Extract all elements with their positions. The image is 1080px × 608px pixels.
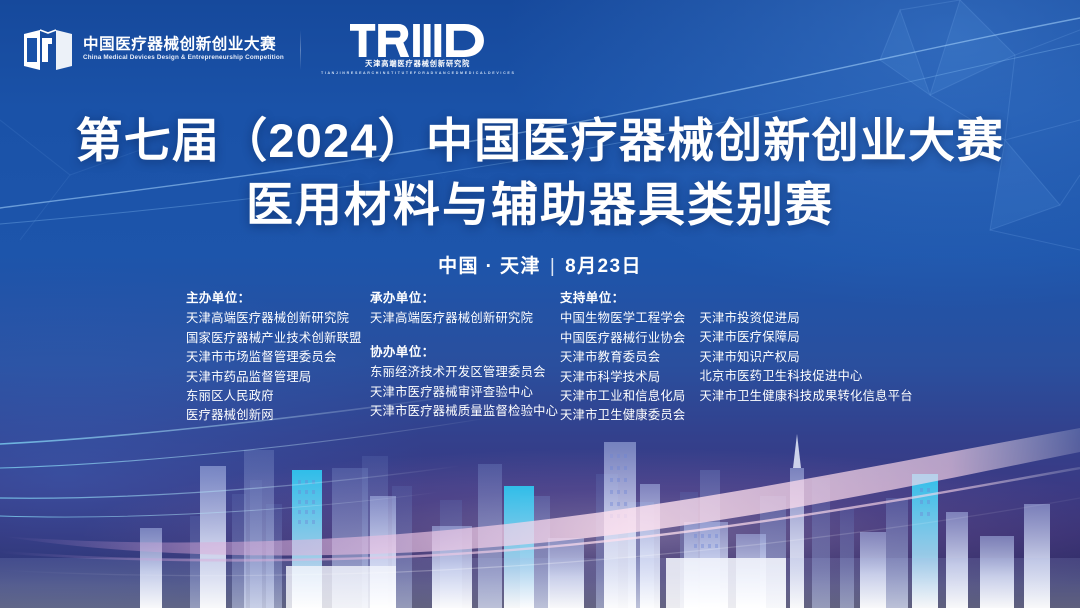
institute-logo[interactable]: 天津高端医疗器械创新研究院 T I A N J I N R E S E A R …	[321, 24, 514, 75]
competition-logo[interactable]: 中国医疗器械创新创业大赛 China Medical Devices Desig…	[22, 28, 280, 72]
organizer-column: 主办单位： 天津高端医疗器械创新研究院 国家医疗器械产业技术创新联盟 天津市市场…	[186, 289, 370, 426]
event-meta: 中国 · 天津|8月23日	[0, 251, 1080, 278]
trimd-wordmark-icon	[350, 24, 486, 57]
coorganizer-item: 天津市医疗器械质量监督检验中心	[370, 402, 560, 421]
organizer-item: 东丽区人民政府	[186, 387, 370, 406]
open-door-icon	[22, 28, 74, 72]
supporter-item: 天津市工业和信息化局	[560, 387, 685, 406]
main-title-line1: 第七届（2024）中国医疗器械创新创业大赛	[0, 112, 1080, 170]
supporter-item: 天津市投资促进局	[699, 309, 912, 328]
organizer-item: 国家医疗器械产业技术创新联盟	[186, 329, 370, 348]
supporter-item: 天津市知识产权局	[699, 348, 912, 367]
undertaker-heading: 承办单位：	[370, 289, 560, 308]
supporter-item: 天津市科学技术局	[560, 368, 685, 387]
supporter-item: 天津市教育委员会	[560, 348, 685, 367]
title-block: 第七届（2024）中国医疗器械创新创业大赛 医用材料与辅助器具类别赛 中国 · …	[0, 112, 1080, 278]
supporter-item: 天津市卫生健康委员会	[560, 406, 685, 425]
organizer-heading: 主办单位：	[186, 289, 370, 308]
supporter-item: 天津市卫生健康科技成果转化信息平台	[699, 387, 912, 406]
supporter-column: 支持单位： 中国生物医学工程学会 中国医疗器械行业协会 天津市教育委员会 天津市…	[560, 289, 913, 426]
column-spacer	[699, 289, 912, 309]
event-date: 8月23日	[565, 256, 642, 277]
organizations-block: 主办单位： 天津高端医疗器械创新研究院 国家医疗器械产业技术创新联盟 天津市市场…	[186, 289, 913, 426]
organizer-item: 天津市药品监督管理局	[186, 368, 370, 387]
supporter-item: 天津市医疗保障局	[699, 328, 912, 347]
institute-name-en: T I A N J I N R E S E A R C H I N S T I …	[321, 71, 514, 75]
supporter-item: 中国医疗器械行业协会	[560, 329, 685, 348]
supporter-item: 中国生物医学工程学会	[560, 309, 685, 328]
header-logos: 中国医疗器械创新创业大赛 China Medical Devices Desig…	[22, 24, 514, 75]
organizer-item: 医疗器械创新网	[186, 406, 370, 425]
main-title-line2: 医用材料与辅助器具类别赛	[0, 176, 1080, 234]
institute-name-cn: 天津高端医疗器械创新研究院	[365, 59, 470, 69]
organizer-item: 天津市市场监督管理委员会	[186, 348, 370, 367]
event-location: 中国 · 天津	[438, 256, 541, 277]
supporter-list-right: 天津市投资促进局 天津市医疗保障局 天津市知识产权局 北京市医药卫生科技促进中心…	[699, 289, 912, 426]
undertaker-item: 天津高端医疗器械创新研究院	[370, 309, 560, 328]
competition-name-cn: 中国医疗器械创新创业大赛	[83, 37, 280, 53]
column-gap	[370, 329, 560, 343]
coorganizer-item: 东丽经济技术开发区管理委员会	[370, 363, 560, 382]
competition-name-en: China Medical Devices Design & Entrepren…	[83, 55, 284, 62]
meta-separator: |	[550, 256, 556, 278]
coorganizer-item: 天津市医疗器械审评查验中心	[370, 383, 560, 402]
coorganizer-heading: 协办单位：	[370, 343, 560, 362]
poster-canvas: 中国医疗器械创新创业大赛 China Medical Devices Desig…	[0, 0, 1080, 608]
supporter-heading: 支持单位：	[560, 289, 685, 308]
organizer-item: 天津高端医疗器械创新研究院	[186, 309, 370, 328]
city-skyline	[0, 408, 1080, 608]
undertaker-column: 承办单位： 天津高端医疗器械创新研究院 协办单位： 东丽经济技术开发区管理委员会…	[370, 289, 560, 421]
supporter-list-left: 支持单位： 中国生物医学工程学会 中国医疗器械行业协会 天津市教育委员会 天津市…	[560, 289, 685, 426]
supporter-item: 北京市医药卫生科技促进中心	[699, 367, 912, 386]
logo-divider	[300, 30, 301, 70]
